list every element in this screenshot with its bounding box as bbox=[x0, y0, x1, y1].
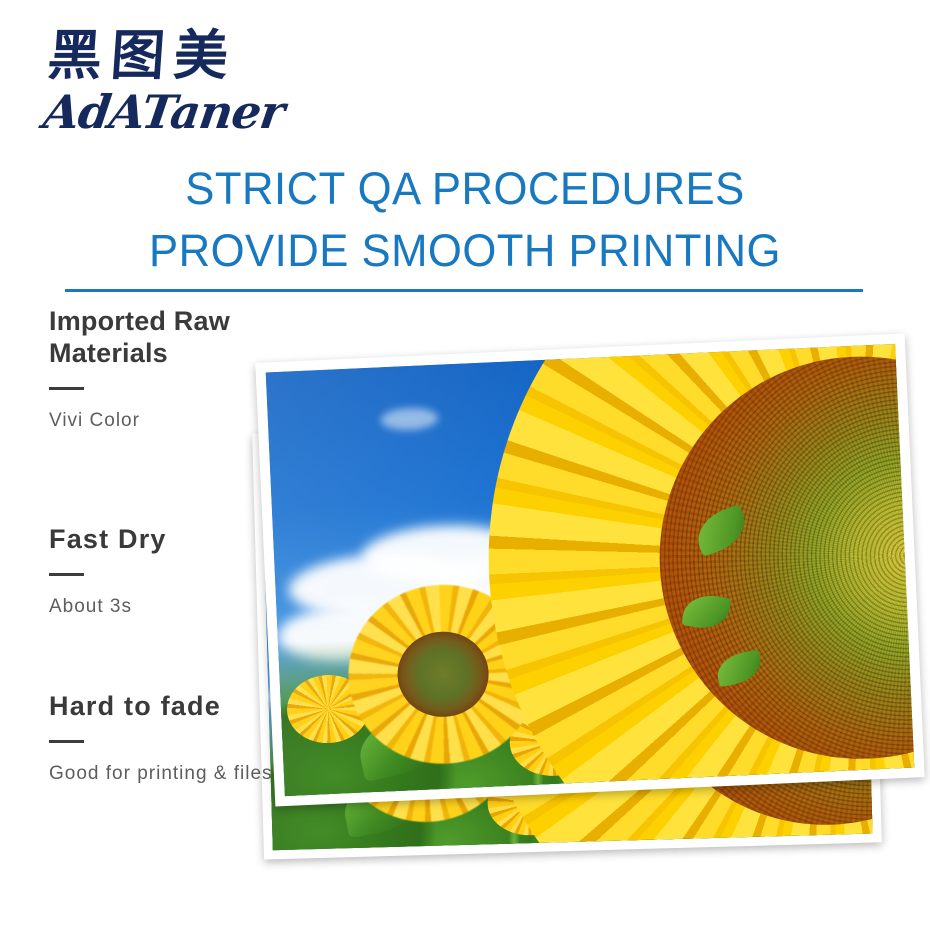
feature-divider bbox=[49, 387, 84, 390]
promo-banner: 黑图美 AdATaner STRICT QA PROCEDURES PROVID… bbox=[0, 0, 930, 930]
feature-title: Fast Dry bbox=[49, 523, 279, 555]
feature-item-fast-dry: Fast Dry About 3s bbox=[49, 523, 279, 620]
feature-title: Hard to fade bbox=[49, 690, 279, 722]
feature-subtitle: Vivi Color bbox=[49, 408, 279, 434]
feature-item-imported-raw-materials: Imported Raw Materials Vivi Color bbox=[49, 305, 279, 434]
feature-title: Imported Raw Materials bbox=[49, 305, 279, 369]
photo-print-front bbox=[255, 333, 924, 806]
photo-stack bbox=[0, 0, 930, 930]
feature-divider bbox=[49, 573, 84, 576]
sunflower-image-front bbox=[266, 344, 915, 796]
foreground-sunflower bbox=[472, 344, 914, 796]
feature-item-hard-to-fade: Hard to fade Good for printing & files bbox=[49, 690, 279, 787]
feature-subtitle: Good for printing & files bbox=[49, 761, 279, 787]
feature-divider bbox=[49, 740, 84, 743]
feature-subtitle: About 3s bbox=[49, 594, 279, 620]
